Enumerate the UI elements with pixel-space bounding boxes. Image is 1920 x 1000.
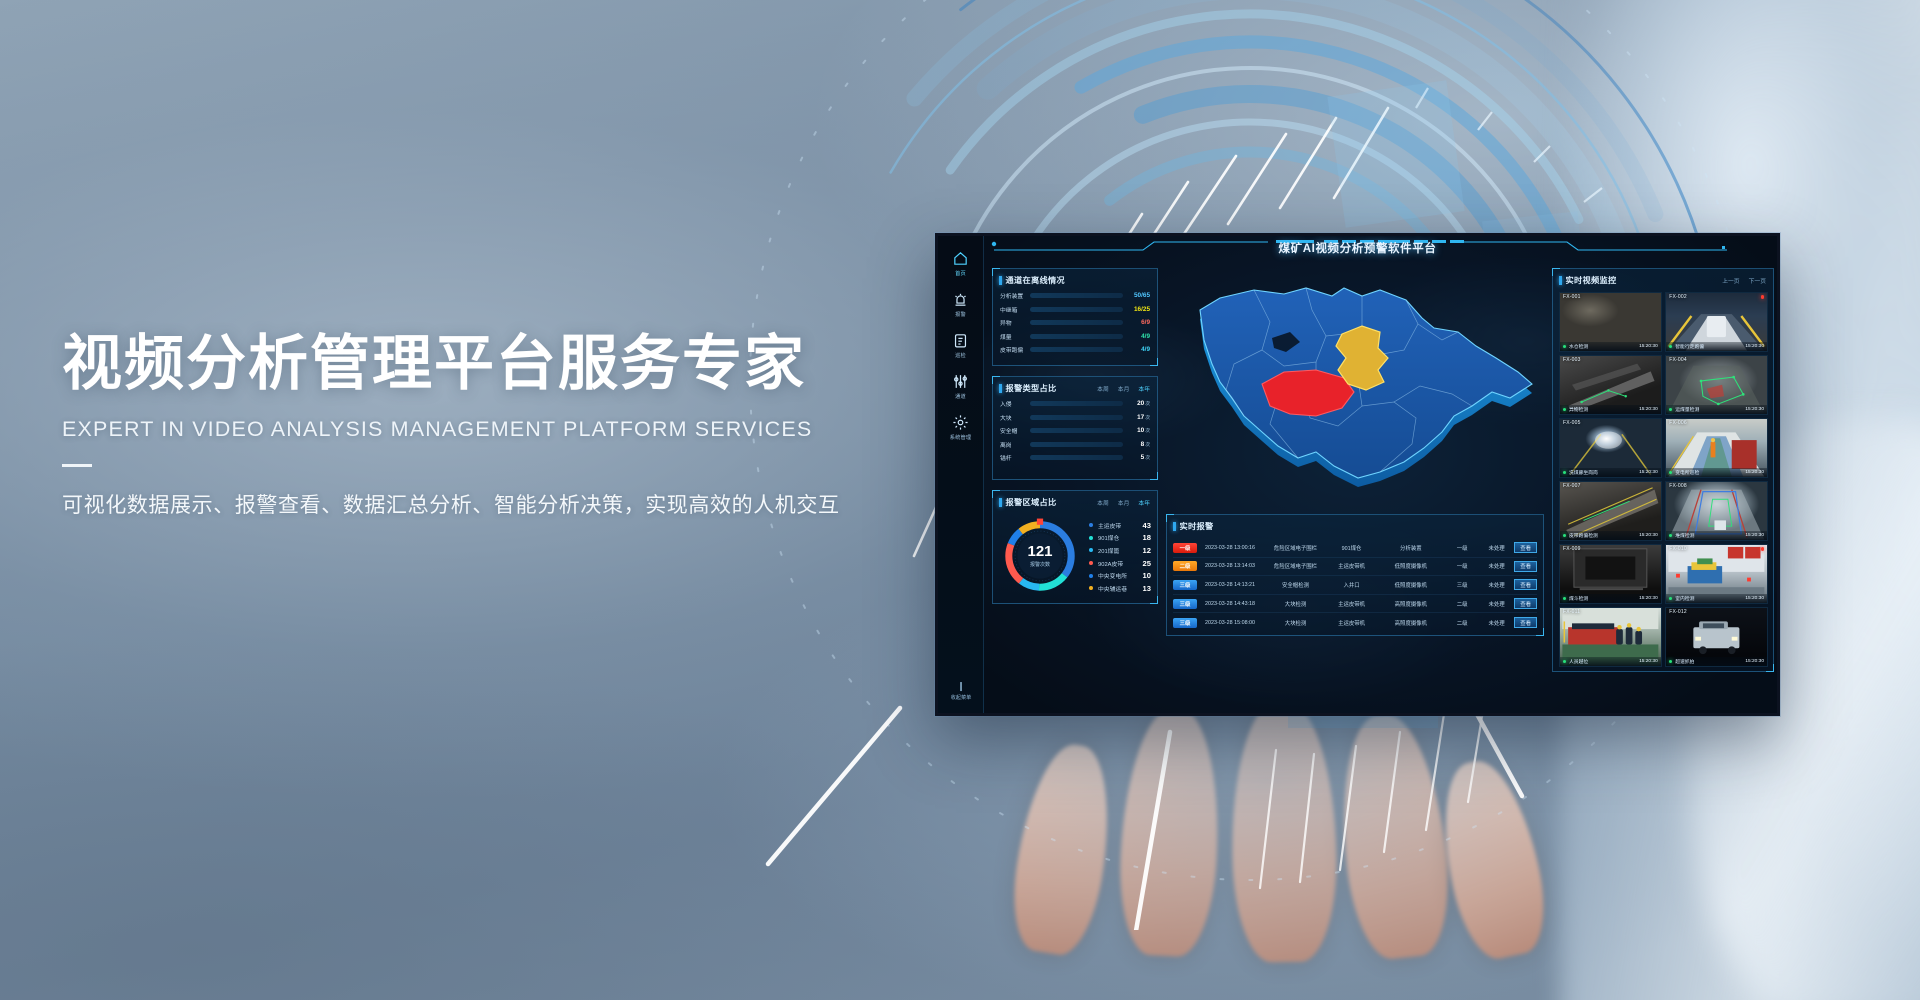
camera-id: FX-007 (1563, 483, 1581, 489)
video-footer: 异物检测 15:20:30 (1560, 405, 1661, 414)
row-value: 17次 (1123, 414, 1150, 421)
legend-value: 12 (1143, 546, 1151, 555)
hero-description: 可视化数据展示、报警查看、数据汇总分析、智能分析决策，实现高效的人机交互 (62, 489, 962, 519)
list-item: 主运皮带 43 (1089, 519, 1151, 532)
dashboard-title: 煤矿AI视频分析预警软件平台 (938, 240, 1777, 256)
gear-icon (952, 414, 969, 431)
camera-label: 运煤量检测 (1675, 406, 1745, 413)
row-label: 离岗 (1000, 440, 1030, 449)
table-row[interactable]: 三级 2023-03-28 14:13:21 安全帽检测 入井口 低照度摄像机 … (1173, 576, 1537, 595)
table-row[interactable]: 一级 2023-03-28 13:00:16 危险区域电子围栏 901煤仓 分析… (1173, 539, 1537, 558)
online-indicator (1563, 345, 1566, 348)
period-tabs: 本周 本月 本年 (1097, 384, 1150, 393)
camera-timestamp: 15:20:30 (1745, 533, 1764, 538)
video-footer: 煤斗检测 15:20:30 (1560, 594, 1661, 603)
divider (62, 464, 92, 467)
sidebar-item-label: 巡检 (955, 352, 966, 359)
camera-timestamp: 15:20:30 (1639, 596, 1658, 601)
cell-status: 未处理 (1479, 562, 1514, 570)
camera-id: FX-004 (1669, 357, 1687, 363)
camera-label: 洗煤廊坐岗岗 (1569, 469, 1639, 476)
cell-grade: 三级 (1445, 581, 1479, 589)
camera-id: FX-005 (1563, 420, 1581, 426)
tab-week[interactable]: 本周 (1097, 384, 1109, 393)
row-value: 50/65 (1123, 292, 1150, 299)
legend-value: 13 (1143, 584, 1151, 593)
status-badge: 二级 (1173, 561, 1197, 571)
progress-track (1030, 320, 1123, 325)
list-item: 902A皮带 25 (1089, 557, 1151, 570)
cell-status: 未处理 (1479, 581, 1514, 589)
page-title: 视频分析管理平台服务专家 (62, 330, 962, 397)
sidebar-item-inspection[interactable]: 巡检 (938, 332, 984, 359)
row-label: 异物 (1000, 318, 1030, 327)
cell-type: 危险区域电子围栏 (1264, 562, 1326, 570)
recording-indicator (1761, 547, 1765, 551)
video-tile[interactable]: FX-009 煤斗检测 15:20:30 (1559, 544, 1662, 604)
panel-header: 实时报警 (1167, 515, 1543, 535)
online-indicator (1669, 597, 1672, 600)
cell-time: 2023-03-28 15:08:00 (1205, 620, 1264, 626)
row-label: 煤量 (1000, 332, 1030, 341)
camera-label: 超速抓拍 (1675, 658, 1745, 665)
home-icon (952, 250, 969, 267)
camera-timestamp: 15:20:30 (1745, 659, 1764, 664)
panel-accent-bar (999, 276, 1002, 285)
list-item: 异物 6/9 (993, 316, 1157, 330)
row-label: 中继箱 (1000, 305, 1030, 314)
video-tile[interactable]: FX-010 室内检测 15:20:30 (1665, 544, 1768, 604)
donut-center-label: 121 报警次数 (1001, 517, 1079, 595)
alarm-type-bar-list: 入侵 20次 大块 17次 安全帽 10次 离岗 8次 (993, 397, 1157, 465)
camera-timestamp: 15:20:30 (1639, 344, 1658, 349)
legend-swatch (1089, 548, 1093, 552)
list-item: 中央变电所 10 (1089, 569, 1151, 582)
video-footer: 室内检测 15:20:30 (1666, 594, 1767, 603)
sidebar-collapse-label: 收起菜单 (938, 694, 984, 701)
legend-swatch (1089, 561, 1093, 565)
video-tile[interactable]: FX-006 变电所巡检 15:20:30 (1665, 418, 1768, 478)
online-indicator (1563, 408, 1566, 411)
list-item: 201煤篦 12 (1089, 544, 1151, 557)
video-tile[interactable]: FX-002 智能行走跑偏 15:20:30 (1665, 292, 1768, 352)
tab-week[interactable]: 本周 (1097, 498, 1109, 507)
region-map[interactable] (1166, 266, 1544, 504)
panel-title: 报警区域占比 (1006, 496, 1057, 508)
cell-type: 安全帽检测 (1264, 581, 1326, 589)
cell-location: 主运皮带机 (1327, 562, 1377, 570)
realtime-alarm-panel: 实时报警 一级 2023-03-28 13:00:16 危险区域电子围栏 901… (1166, 514, 1544, 636)
camera-timestamp: 15:20:30 (1745, 596, 1764, 601)
sidebar-item-alarm[interactable]: 报警 (938, 291, 984, 318)
camera-timestamp: 15:20:30 (1745, 470, 1764, 475)
cell-status: 未处理 (1479, 544, 1514, 552)
tab-month[interactable]: 本月 (1118, 498, 1130, 507)
camera-id: FX-006 (1669, 420, 1687, 426)
video-tile[interactable]: FX-008 堆煤检测 15:20:30 (1665, 481, 1768, 541)
view-button[interactable]: 查看 (1514, 561, 1537, 572)
panel-title: 实时报警 (1180, 520, 1214, 532)
video-footer: 人员越位 15:20:30 (1560, 657, 1661, 666)
progress-track (1030, 415, 1123, 420)
panel-accent-bar (999, 384, 1002, 393)
list-item: 皮带跑偏 4/9 (993, 343, 1157, 357)
cell-location: 入井口 (1327, 581, 1377, 589)
legend-swatch (1089, 586, 1093, 590)
row-value: 6/9 (1123, 319, 1150, 326)
progress-track (1030, 428, 1123, 433)
camera-timestamp: 15:20:30 (1639, 659, 1658, 664)
video-tile[interactable]: FX-004 运煤量检测 15:20:30 (1665, 355, 1768, 415)
list-item: 大块 17次 (993, 411, 1157, 425)
video-tile[interactable]: FX-003 异物检测 15:20:30 (1559, 355, 1662, 415)
online-indicator (1669, 660, 1672, 663)
video-grid: FX-001 水仓检测 15:20:30 (1559, 292, 1768, 667)
cell-grade: 二级 (1445, 619, 1479, 627)
panel-header: 报警区域占比 本周 本月 本年 (993, 491, 1157, 511)
dashboard-titlebar: 煤矿AI视频分析预警软件平台 (938, 236, 1777, 264)
dashboard-screen: 煤矿AI视频分析预警软件平台 首页 报警 巡检 (938, 236, 1777, 713)
camera-label: 煤斗检测 (1569, 595, 1639, 602)
online-indicator (1669, 345, 1672, 348)
camera-label: 人员越位 (1569, 658, 1639, 665)
period-tabs: 本周 本月 本年 (1097, 498, 1150, 507)
view-button[interactable]: 查看 (1514, 579, 1537, 590)
row-label: 锚杆 (1000, 453, 1030, 462)
view-button[interactable]: 查看 (1514, 617, 1537, 628)
sidebar-item-home[interactable]: 首页 (938, 250, 984, 277)
hero-text-block: 视频分析管理平台服务专家 EXPERT IN VIDEO ANALYSIS MA… (62, 330, 962, 519)
list-item: 煤量 4/9 (993, 330, 1157, 344)
row-value: 4/9 (1123, 333, 1150, 340)
panel-accent-bar (999, 498, 1002, 507)
collapse-icon: ❙ (938, 681, 984, 692)
row-label: 分析装置 (1000, 291, 1030, 300)
status-badge: 三级 (1173, 580, 1197, 590)
dashboard-sidebar: 首页 报警 巡检 通道 (938, 236, 984, 713)
cell-grade: 一级 (1445, 562, 1479, 570)
legend-value: 10 (1143, 571, 1151, 580)
progress-track (1030, 307, 1123, 312)
cell-location: 主运皮带机 (1327, 600, 1377, 608)
online-indicator (1563, 534, 1566, 537)
legend-value: 25 (1143, 559, 1151, 568)
sidebar-item-system[interactable]: 系统管理 (938, 414, 984, 441)
clipboard-icon (952, 332, 969, 349)
recording-indicator (1761, 295, 1765, 299)
camera-label: 智能行走跑偏 (1675, 343, 1745, 350)
progress-track (1030, 442, 1123, 447)
legend-label: 902A皮带 (1098, 559, 1143, 568)
sidebar-item-channel[interactable]: 通道 (938, 373, 984, 400)
channel-status-panel: 通道在离线情况 分析装置 50/65 中继箱 16/25 异物 6/9 (992, 268, 1158, 366)
panel-title: 实时视频监控 (1566, 274, 1617, 286)
cell-time: 2023-03-28 13:00:16 (1205, 545, 1264, 551)
online-indicator (1563, 597, 1566, 600)
camera-timestamp: 15:20:30 (1745, 407, 1764, 412)
online-indicator (1669, 408, 1672, 411)
progress-track (1030, 455, 1123, 460)
panel-header: 报警类型占比 本周 本月 本年 (993, 377, 1157, 397)
camera-timestamp: 15:20:30 (1639, 533, 1658, 538)
row-label: 安全帽 (1000, 426, 1030, 435)
row-value: 16/25 (1123, 306, 1150, 313)
list-item: 901煤仓 18 (1089, 532, 1151, 545)
view-button[interactable]: 查看 (1514, 598, 1537, 609)
sliders-icon (952, 373, 969, 390)
video-footer: 水仓检测 15:20:30 (1560, 342, 1661, 351)
list-item: 中继箱 16/25 (993, 303, 1157, 317)
row-value: 20次 (1123, 400, 1150, 407)
view-button[interactable]: 查看 (1514, 542, 1537, 553)
camera-id: FX-008 (1669, 483, 1687, 489)
cell-status: 未处理 (1479, 619, 1514, 627)
cell-grade: 二级 (1445, 600, 1479, 608)
video-pagination: 上一页 下一页 (1722, 276, 1766, 285)
camera-label: 堆煤检测 (1675, 532, 1745, 539)
donut-legend: 主运皮带 43 901煤仓 18 201煤篦 12 902A皮带 25 (1089, 519, 1151, 595)
video-tile[interactable]: FX-012 超速抓拍 15:20:30 (1665, 607, 1768, 667)
list-item: 中央辅运巷 13 (1089, 582, 1151, 595)
camera-label: 室内检测 (1675, 595, 1745, 602)
donut-chart: 121 报警次数 (1001, 517, 1079, 595)
video-tile[interactable]: FX-011 人员越位 15:20:30 (1559, 607, 1662, 667)
row-value: 4/9 (1123, 346, 1150, 353)
status-badge: 三级 (1173, 599, 1197, 609)
list-item: 离岗 8次 (993, 438, 1157, 452)
table-row[interactable]: 三级 2023-03-28 15:08:00 大块检测 主运皮带机 高照度摄像机… (1173, 613, 1537, 632)
tab-year[interactable]: 本年 (1138, 384, 1150, 393)
cell-location: 901煤仓 (1327, 544, 1377, 552)
alarm-icon (952, 291, 969, 308)
video-footer: 智能行走跑偏 15:20:30 (1666, 342, 1767, 351)
sidebar-item-label: 报警 (955, 311, 966, 318)
hero-subtitle-en: EXPERT IN VIDEO ANALYSIS MANAGEMENT PLAT… (62, 417, 962, 442)
cell-device: 高照度摄像机 (1376, 600, 1445, 608)
online-indicator (1669, 534, 1672, 537)
video-tile[interactable]: FX-005 洗煤廊坐岗岗 15:20:30 (1559, 418, 1662, 478)
legend-label: 中央变电所 (1098, 571, 1143, 580)
camera-label: 水仓检测 (1569, 343, 1639, 350)
next-page-button[interactable]: 下一页 (1749, 276, 1766, 285)
alarm-area-panel: 报警区域占比 本周 本月 本年 (992, 490, 1158, 604)
cell-status: 未处理 (1479, 600, 1514, 608)
table-row[interactable]: 二级 2023-03-28 13:14:03 危险区域电子围栏 主运皮带机 低照… (1173, 558, 1537, 577)
cell-location: 主运皮带机 (1327, 619, 1377, 627)
legend-swatch (1089, 536, 1093, 540)
donut-caption: 报警次数 (1030, 561, 1050, 568)
video-footer: 皮带跑偏检测 15:20:30 (1560, 531, 1661, 540)
row-label: 皮带跑偏 (1000, 345, 1030, 354)
sidebar-item-label: 通道 (955, 393, 966, 400)
progress-track (1030, 293, 1123, 298)
legend-value: 18 (1143, 533, 1151, 542)
donut-total: 121 (1027, 544, 1052, 559)
video-footer: 堆煤检测 15:20:30 (1666, 531, 1767, 540)
cell-time: 2023-03-28 14:43:18 (1205, 601, 1264, 607)
alarm-type-panel: 报警类型占比 本周 本月 本年 入侵 20次 大块 17次 (992, 376, 1158, 480)
cell-device: 高照度摄像机 (1376, 619, 1445, 627)
camera-label: 皮带跑偏检测 (1569, 532, 1639, 539)
panel-title: 通道在离线情况 (1006, 274, 1065, 286)
monitor-frame: 煤矿AI视频分析预警软件平台 首页 报警 巡检 (935, 233, 1780, 716)
online-indicator (1563, 660, 1566, 663)
camera-timestamp: 15:20:30 (1639, 407, 1658, 412)
prev-page-button[interactable]: 上一页 (1722, 276, 1739, 285)
progress-track (1030, 334, 1123, 339)
progress-track (1030, 401, 1123, 406)
camera-timestamp: 15:20:30 (1639, 470, 1658, 475)
list-item: 入侵 20次 (993, 397, 1157, 411)
camera-timestamp: 15:20:30 (1745, 344, 1764, 349)
cell-device: 低照度摄像机 (1376, 581, 1445, 589)
tab-month[interactable]: 本月 (1118, 384, 1130, 393)
list-item: 分析装置 50/65 (993, 289, 1157, 303)
cell-device: 低照度摄像机 (1376, 562, 1445, 570)
map-svg (1166, 266, 1544, 504)
status-badge: 一级 (1173, 543, 1197, 553)
panel-header: 通道在离线情况 (993, 269, 1157, 289)
cell-time: 2023-03-28 14:13:21 (1205, 582, 1264, 588)
legend-swatch (1089, 523, 1093, 527)
video-footer: 运煤量检测 15:20:30 (1666, 405, 1767, 414)
table-row[interactable]: 三级 2023-03-28 14:43:18 大块检测 主运皮带机 高照度摄像机… (1173, 595, 1537, 614)
cell-grade: 一级 (1445, 544, 1479, 552)
row-value: 10次 (1123, 427, 1150, 434)
online-indicator (1563, 471, 1566, 474)
panel-title: 报警类型占比 (1006, 382, 1057, 394)
row-value: 5次 (1123, 454, 1150, 461)
video-tile[interactable]: FX-001 水仓检测 15:20:30 (1559, 292, 1662, 352)
panel-accent-bar (1559, 276, 1562, 285)
video-footer: 洗煤廊坐岗岗 15:20:30 (1560, 468, 1661, 477)
sidebar-item-label: 系统管理 (950, 434, 972, 441)
online-indicator (1669, 471, 1672, 474)
row-label: 入侵 (1000, 399, 1030, 408)
panel-header: 实时视频监控 上一页 下一页 (1553, 269, 1773, 289)
alarm-table: 一级 2023-03-28 13:00:16 危险区域电子围栏 901煤仓 分析… (1173, 539, 1537, 631)
progress-track (1030, 347, 1123, 352)
legend-swatch (1089, 574, 1093, 578)
sidebar-collapse-button[interactable]: ❙ 收起菜单 (938, 681, 984, 701)
cell-type: 大块检测 (1264, 600, 1326, 608)
status-badge: 三级 (1173, 618, 1197, 628)
camera-id: FX-001 (1563, 294, 1581, 300)
video-footer: 变电所巡检 15:20:30 (1666, 468, 1767, 477)
row-value: 8次 (1123, 441, 1150, 448)
camera-id: FX-010 (1669, 546, 1687, 552)
camera-label: 异物检测 (1569, 406, 1639, 413)
sidebar-item-label: 首页 (955, 270, 966, 277)
legend-value: 43 (1143, 521, 1151, 530)
video-monitor-panel: 实时视频监控 上一页 下一页 FX-001 水仓检测 15:20:30 (1552, 268, 1774, 672)
camera-id: FX-009 (1563, 546, 1581, 552)
list-item: 锚杆 5次 (993, 451, 1157, 465)
legend-label: 主运皮带 (1098, 521, 1143, 530)
camera-id: FX-002 (1669, 294, 1687, 300)
legend-label: 901煤仓 (1098, 533, 1143, 542)
video-footer: 超速抓拍 15:20:30 (1666, 657, 1767, 666)
channel-bar-list: 分析装置 50/65 中继箱 16/25 异物 6/9 煤量 4 (993, 289, 1157, 357)
camera-label: 变电所巡检 (1675, 469, 1745, 476)
cell-device: 分析装置 (1376, 544, 1445, 552)
camera-id: FX-003 (1563, 357, 1581, 363)
panel-accent-bar (1173, 522, 1176, 531)
tab-year[interactable]: 本年 (1138, 498, 1150, 507)
row-label: 大块 (1000, 413, 1030, 422)
list-item: 安全帽 10次 (993, 424, 1157, 438)
legend-label: 201煤篦 (1098, 546, 1143, 555)
camera-id: FX-012 (1669, 609, 1687, 615)
cell-type: 大块检测 (1264, 619, 1326, 627)
legend-label: 中央辅运巷 (1098, 584, 1143, 593)
cell-type: 危险区域电子围栏 (1264, 544, 1326, 552)
cell-time: 2023-03-28 13:14:03 (1205, 563, 1264, 569)
camera-id: FX-011 (1563, 609, 1580, 615)
video-tile[interactable]: FX-007 皮带跑偏检测 15:20:30 (1559, 481, 1662, 541)
